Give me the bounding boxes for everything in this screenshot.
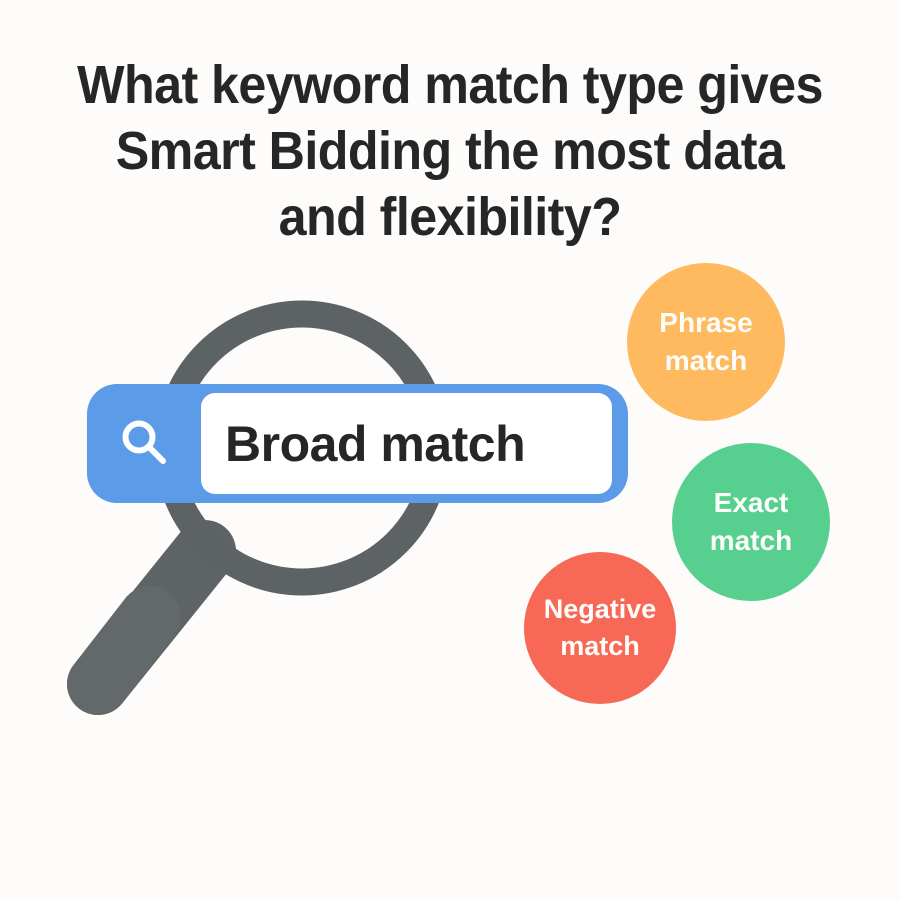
- bubble-label-line-2: match: [665, 342, 747, 380]
- bubble-label-line-1: Exact: [714, 484, 789, 522]
- page-title: What keyword match type gives Smart Bidd…: [0, 52, 900, 250]
- title-line-2: Smart Bidding the most data: [32, 118, 869, 184]
- infographic-canvas: What keyword match type gives Smart Bidd…: [0, 0, 900, 900]
- bubble-label-line-1: Negative: [544, 591, 657, 628]
- search-input-value: Broad match: [225, 415, 525, 473]
- magnifier-handle-icon: [98, 551, 205, 684]
- option-bubble-exact-match[interactable]: Exact match: [672, 443, 830, 601]
- option-bubble-phrase-match[interactable]: Phrase match: [627, 263, 785, 421]
- title-line-1: What keyword match type gives: [32, 52, 869, 118]
- search-input[interactable]: Broad match: [201, 393, 612, 494]
- bubble-label-line-2: match: [560, 628, 640, 665]
- option-bubble-negative-match[interactable]: Negative match: [524, 552, 676, 704]
- search-icon[interactable]: [104, 384, 186, 503]
- search-bar[interactable]: Broad match: [87, 384, 628, 503]
- title-line-3: and flexibility?: [32, 184, 869, 250]
- bubble-label-line-2: match: [710, 522, 792, 560]
- bubble-label-line-1: Phrase: [659, 304, 752, 342]
